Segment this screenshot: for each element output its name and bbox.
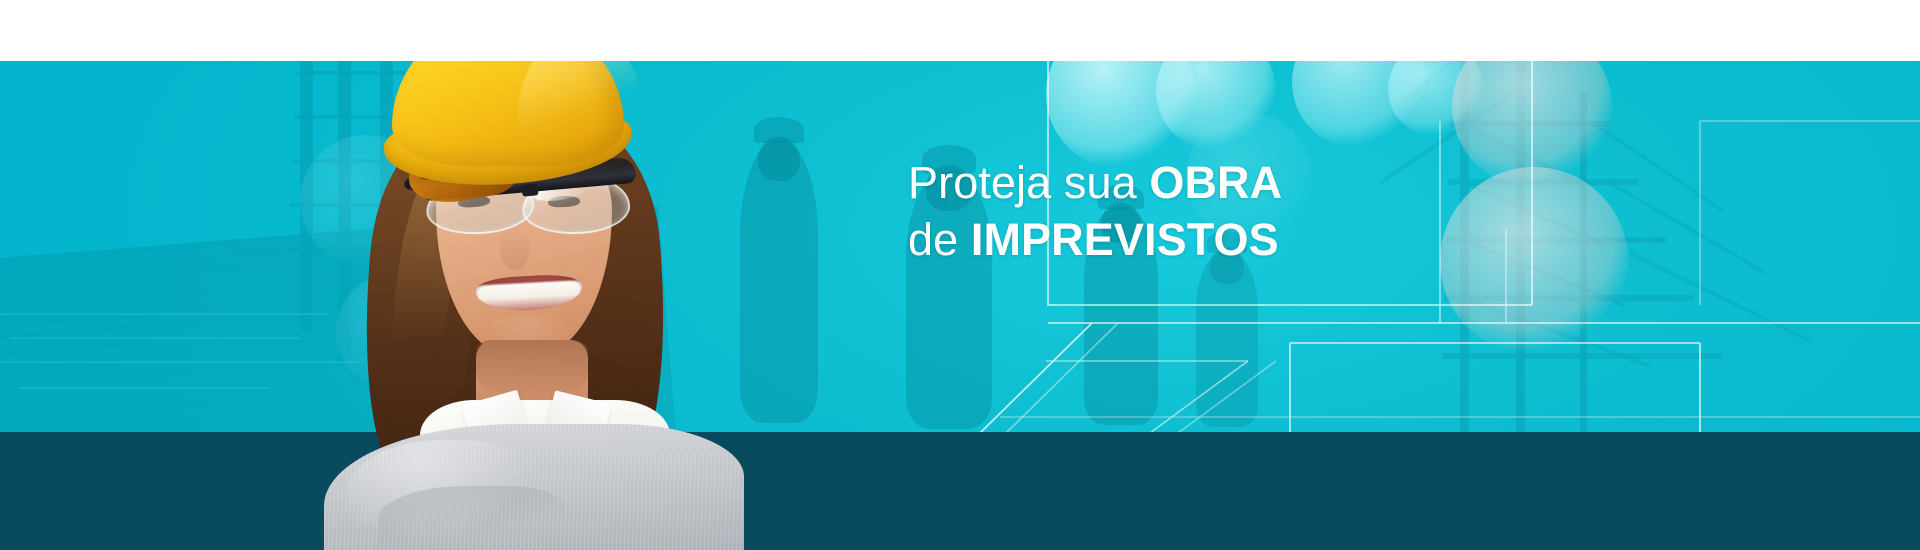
bokeh-circle	[1156, 61, 1276, 151]
safety-glasses-bridge	[522, 183, 539, 196]
crane-truss-ghost-right	[1280, 61, 1920, 432]
banner-footer-band	[0, 432, 1920, 550]
headline-line-1-bold: OBRA	[1149, 157, 1282, 208]
bokeh-circle	[1046, 61, 1196, 169]
nose	[500, 226, 530, 270]
headline-line-2: de IMPREVISTOS	[908, 217, 1282, 263]
headline-line-2-bold: IMPREVISTOS	[971, 214, 1279, 265]
headline-line-1-light: Proteja sua	[908, 157, 1149, 208]
woman-construction-worker-photo	[300, 0, 760, 550]
headline-line-2-light: de	[908, 214, 971, 265]
top-white-strip	[0, 0, 1920, 61]
sweater-fold-shadow	[378, 486, 564, 550]
neck-shadow	[476, 340, 588, 396]
headline: Proteja sua OBRA de IMPREVISTOS	[908, 160, 1282, 263]
promo-banner: Proteja sua OBRA de IMPREVISTOS	[0, 0, 1920, 550]
headline-line-1: Proteja sua OBRA	[908, 160, 1282, 206]
worker-silhouette	[1196, 251, 1258, 427]
